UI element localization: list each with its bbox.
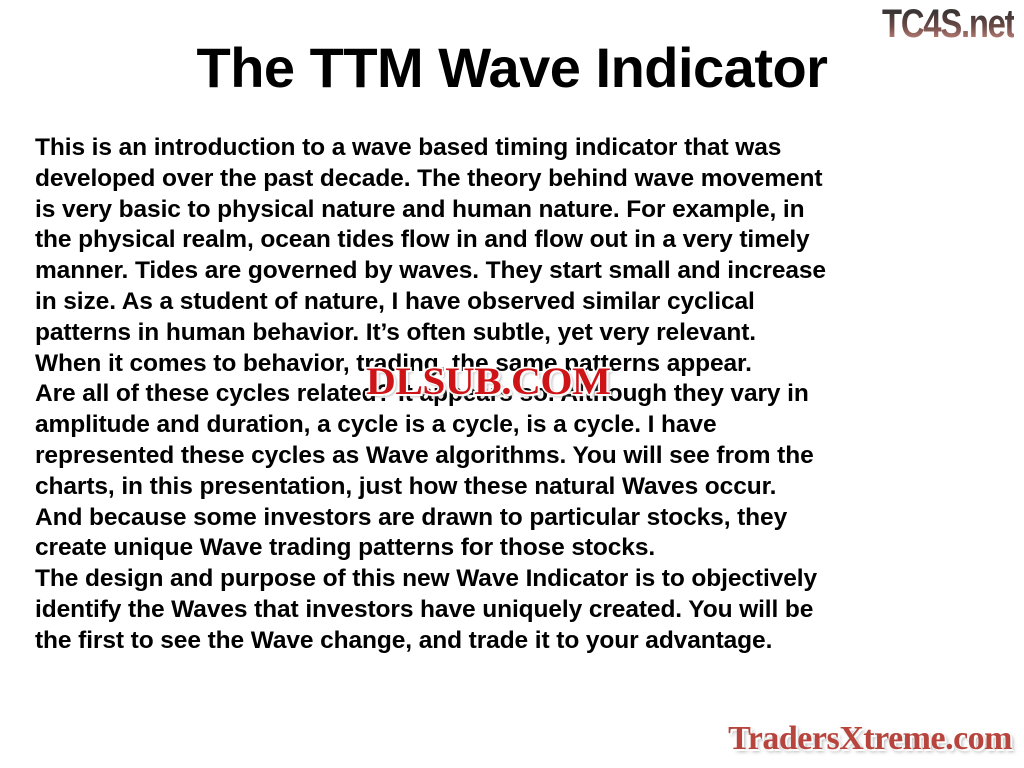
- body-line: create unique Wave trading patterns for …: [35, 533, 1003, 564]
- body-line: identify the Waves that investors have u…: [35, 595, 1003, 626]
- page-title: The TTM Wave Indicator: [0, 36, 1024, 100]
- body-line: developed over the past decade. The theo…: [35, 164, 1003, 195]
- tradersxtreme-brand-logo: TradersXtreme.com: [728, 720, 1012, 758]
- body-line: charts, in this presentation, just how t…: [35, 472, 1003, 503]
- body-line: in size. As a student of nature, I have …: [35, 287, 1003, 318]
- body-line: the first to see the Wave change, and tr…: [35, 626, 1003, 657]
- body-line: amplitude and duration, a cycle is a cyc…: [35, 410, 1003, 441]
- body-line: patterns in human behavior. It’s often s…: [35, 318, 1003, 349]
- body-line: This is an introduction to a wave based …: [35, 133, 1003, 164]
- paragraph-2: The design and purpose of this new Wave …: [35, 564, 1003, 656]
- dlsub-watermark: DLSUB.COM: [366, 362, 610, 401]
- body-line: The design and purpose of this new Wave …: [35, 564, 1003, 595]
- slide-canvas: TC4S.net The TTM Wave Indicator This is …: [0, 0, 1024, 768]
- body-line: represented these cycles as Wave algorit…: [35, 441, 1003, 472]
- body-line: the physical realm, ocean tides flow in …: [35, 225, 1003, 256]
- body-line: And because some investors are drawn to …: [35, 503, 1003, 534]
- body-line: manner. Tides are governed by waves. The…: [35, 256, 1003, 287]
- body-line: is very basic to physical nature and hum…: [35, 195, 1003, 226]
- paragraph-1: This is an introduction to a wave based …: [35, 133, 1003, 564]
